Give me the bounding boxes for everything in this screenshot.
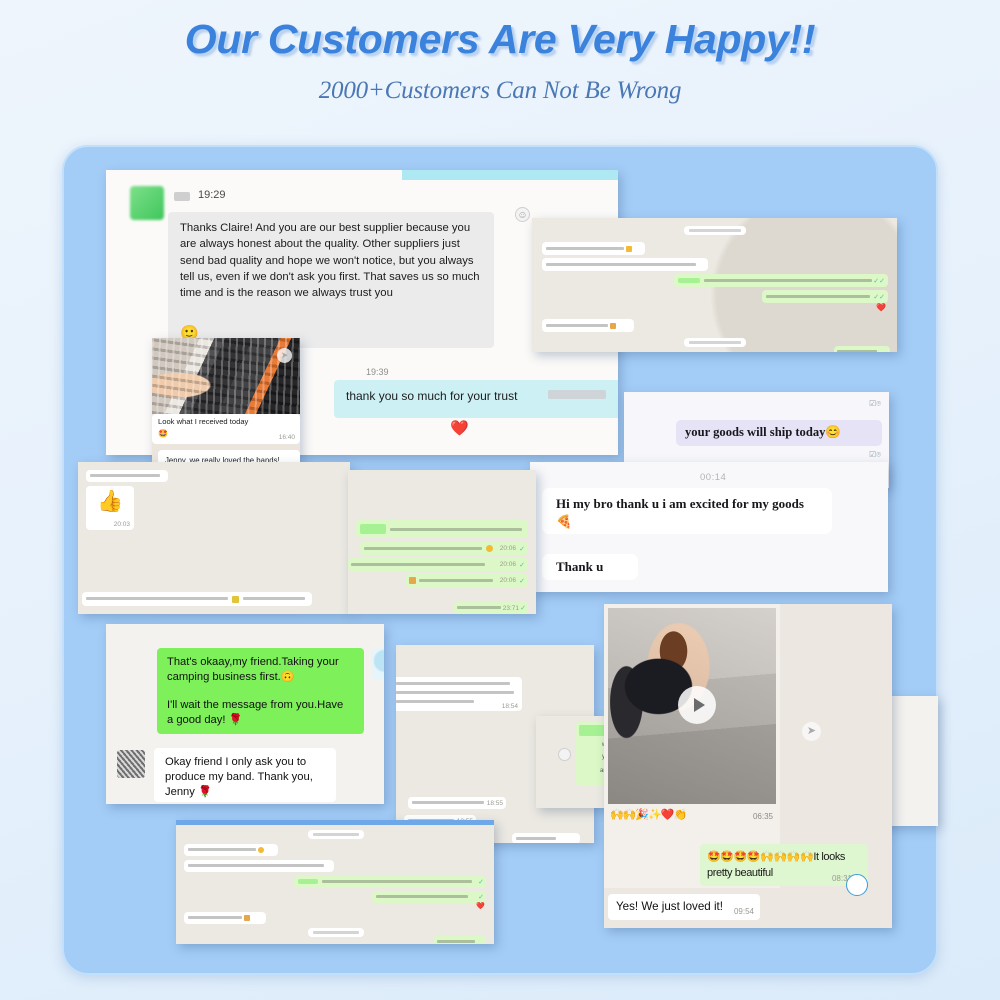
loved-it-text: Yes! We just loved it! bbox=[616, 900, 723, 913]
photo-caption-bubble[interactable]: Look what I received today 🤩 16:40 bbox=[152, 414, 300, 444]
incoming-message-bubble[interactable] bbox=[184, 844, 278, 856]
received-bands-photo[interactable] bbox=[152, 338, 300, 414]
outgoing-message-bubble[interactable]: ✓✓ bbox=[762, 290, 888, 303]
card-top-accent bbox=[176, 820, 494, 825]
incoming-message-bubble[interactable]: Thanks Claire! And you are our best supp… bbox=[168, 212, 494, 348]
outgoing-message-bubble[interactable] bbox=[834, 346, 890, 352]
blurred-green-avatar-icon bbox=[130, 186, 164, 220]
testimonial-card-green-sliver[interactable]: we you anyti bbox=[536, 716, 614, 808]
message-timestamp: 19:29 bbox=[198, 189, 226, 201]
play-button-icon[interactable] bbox=[678, 686, 716, 724]
redacted-name bbox=[174, 192, 190, 201]
photo-timestamp: 16:40 bbox=[279, 434, 295, 441]
incoming-message-bubble[interactable] bbox=[184, 860, 334, 872]
outgoing-message-bubble[interactable]: 20:06 ✓ bbox=[360, 542, 528, 555]
camping-text-2: I'll wait the message from you.Have a go… bbox=[167, 698, 347, 728]
heart-reaction[interactable]: ❤️ bbox=[450, 419, 469, 437]
incoming-message-bubble[interactable]: 18:55 bbox=[408, 797, 506, 809]
incoming-message-bubble[interactable]: 18:54 bbox=[396, 677, 522, 711]
forward-arrow-icon[interactable]: ➤ bbox=[277, 348, 292, 363]
heart-reaction[interactable]: ❤️ bbox=[476, 902, 485, 910]
testimonial-card-adapters-top[interactable]: ✓✓ ✓✓ ❤️ bbox=[532, 218, 897, 352]
thank-u-text: Thank u bbox=[556, 559, 603, 575]
outgoing-reply-bubble[interactable]: thank you so much for your trust bbox=[334, 380, 618, 418]
redacted-text bbox=[548, 390, 606, 399]
forward-arrow-icon[interactable]: ➤ bbox=[802, 722, 821, 741]
incoming-message-bubble[interactable] bbox=[512, 833, 580, 843]
incoming-message-bubble[interactable]: Hi my bro thank u i am excited for my go… bbox=[542, 488, 832, 534]
emoji-glyph bbox=[244, 915, 250, 921]
chevron-down-circle-icon[interactable] bbox=[846, 874, 868, 896]
star-eyes-emoji: 🤩 bbox=[158, 429, 168, 438]
outgoing-message-bubble[interactable]: ✓ bbox=[372, 891, 486, 903]
emoji-glyph bbox=[610, 323, 616, 329]
outgoing-message-bubble[interactable]: 20:06 ✓ bbox=[406, 574, 528, 587]
outgoing-message-bubble[interactable]: 23:71 ✓ bbox=[454, 602, 528, 614]
heart-reaction[interactable]: ❤️ bbox=[876, 303, 886, 312]
incoming-message-bubble[interactable] bbox=[542, 319, 634, 332]
page-subtitle: 2000+Customers Can Not Be Wrong bbox=[0, 77, 1000, 105]
photo-caption-text: Look what I received today bbox=[158, 417, 248, 426]
conversation-timestamp: 00:14 bbox=[700, 472, 726, 483]
date-divider bbox=[308, 830, 364, 839]
incoming-message-bubble[interactable] bbox=[542, 242, 645, 255]
testimonial-card-knowledgeable[interactable]: 20:06 ✓ 20:06 ✓ 20:06 ✓ 23:71 ✓ bbox=[348, 470, 536, 614]
date-divider bbox=[684, 338, 746, 347]
testimonial-card-thumbs-up[interactable]: 👍 20:03 bbox=[78, 462, 350, 614]
hi-my-bro-text: Hi my bro thank u i am excited for my go… bbox=[556, 495, 822, 531]
date-divider bbox=[684, 226, 746, 235]
incoming-message-bubble[interactable] bbox=[86, 470, 168, 482]
produce-band-text: Okay friend I only ask you to produce my… bbox=[165, 755, 329, 800]
sticker-icon bbox=[372, 648, 384, 680]
emoji-glyph bbox=[486, 545, 493, 552]
incoming-message-bubble[interactable] bbox=[82, 592, 312, 606]
thumbs-up-bubble[interactable]: 👍 20:03 bbox=[86, 486, 134, 530]
reaction-row: 🙌🙌🎉✨❤️👏 bbox=[610, 808, 686, 821]
outgoing-message-bubble[interactable]: 🤩🤩🤩🤩🙌🙌🙌🙌It looks pretty beautiful 08:31 … bbox=[700, 844, 868, 886]
outgoing-message-bubble[interactable] bbox=[356, 520, 528, 538]
incoming-message-bubble[interactable]: Thank u bbox=[542, 554, 638, 580]
card-top-accent bbox=[402, 170, 618, 180]
incoming-message-bubble[interactable] bbox=[184, 912, 266, 924]
incoming-message-text: Thanks Claire! And you are our best supp… bbox=[180, 220, 482, 301]
outgoing-message-bubble[interactable] bbox=[434, 936, 486, 944]
incoming-message-bubble[interactable] bbox=[542, 258, 708, 271]
testimonial-card-hi-my-bro[interactable]: 00:14 Hi my bro thank u i am excited for… bbox=[530, 462, 888, 592]
ship-today-text: your goods will ship today😊 bbox=[685, 425, 841, 440]
emoji-glyph bbox=[232, 596, 239, 603]
reply-timestamp: 19:39 bbox=[366, 367, 389, 377]
emoji-glyph bbox=[258, 847, 264, 853]
emoji-glyph bbox=[626, 246, 632, 252]
outgoing-message-bubble[interactable]: 20:06 ✓ bbox=[348, 558, 528, 571]
incoming-message-bubble[interactable]: Yes! We just loved it! 09:54 bbox=[608, 894, 760, 920]
outgoing-message-bubble[interactable]: ✓ bbox=[294, 876, 486, 888]
outgoing-message-bubble[interactable]: ✓✓ bbox=[674, 274, 888, 287]
outgoing-message-bubble[interactable]: your goods will ship today😊 bbox=[676, 420, 882, 446]
read-receipt-icon: ☑⌾ bbox=[869, 450, 881, 460]
testimonial-card-watch-video[interactable]: 🙌🙌🎉✨❤️👏 06:35 ➤ 🤩🤩🤩🤩🙌🙌🙌🙌It looks pretty … bbox=[604, 604, 892, 928]
smiley-face-icon[interactable]: ☺ bbox=[515, 207, 530, 222]
page-title: Our Customers Are Very Happy!! bbox=[0, 16, 1000, 63]
outgoing-message-bubble[interactable]: That's okaay,my friend.Taking your campi… bbox=[157, 648, 364, 734]
loved-it-timestamp: 09:54 bbox=[734, 907, 754, 916]
incoming-message-bubble[interactable]: Okay friend I only ask you to produce my… bbox=[154, 748, 336, 802]
testimonial-card-camping-green[interactable]: That's okaay,my friend.Taking your campi… bbox=[106, 624, 384, 804]
testimonial-card-adapters-bottom[interactable]: ✓ ✓ ❤️ bbox=[176, 820, 494, 944]
striped-avatar-icon bbox=[117, 750, 145, 778]
circle-avatar-icon bbox=[558, 748, 571, 761]
thumbs-up-icon: 👍 bbox=[97, 490, 123, 514]
outgoing-reply-text: thank you so much for your trust bbox=[346, 389, 517, 403]
camping-text-1: That's okaay,my friend.Taking your campi… bbox=[167, 655, 357, 685]
video-timestamp: 06:35 bbox=[753, 812, 773, 821]
read-receipt-icon: ☑⌾ bbox=[869, 399, 881, 409]
thumbs-up-icon bbox=[409, 577, 416, 584]
date-divider bbox=[308, 928, 364, 937]
page-header: Our Customers Are Very Happy!! 2000+Cust… bbox=[0, 0, 1000, 140]
message-timestamp: 20:03 bbox=[114, 521, 130, 528]
